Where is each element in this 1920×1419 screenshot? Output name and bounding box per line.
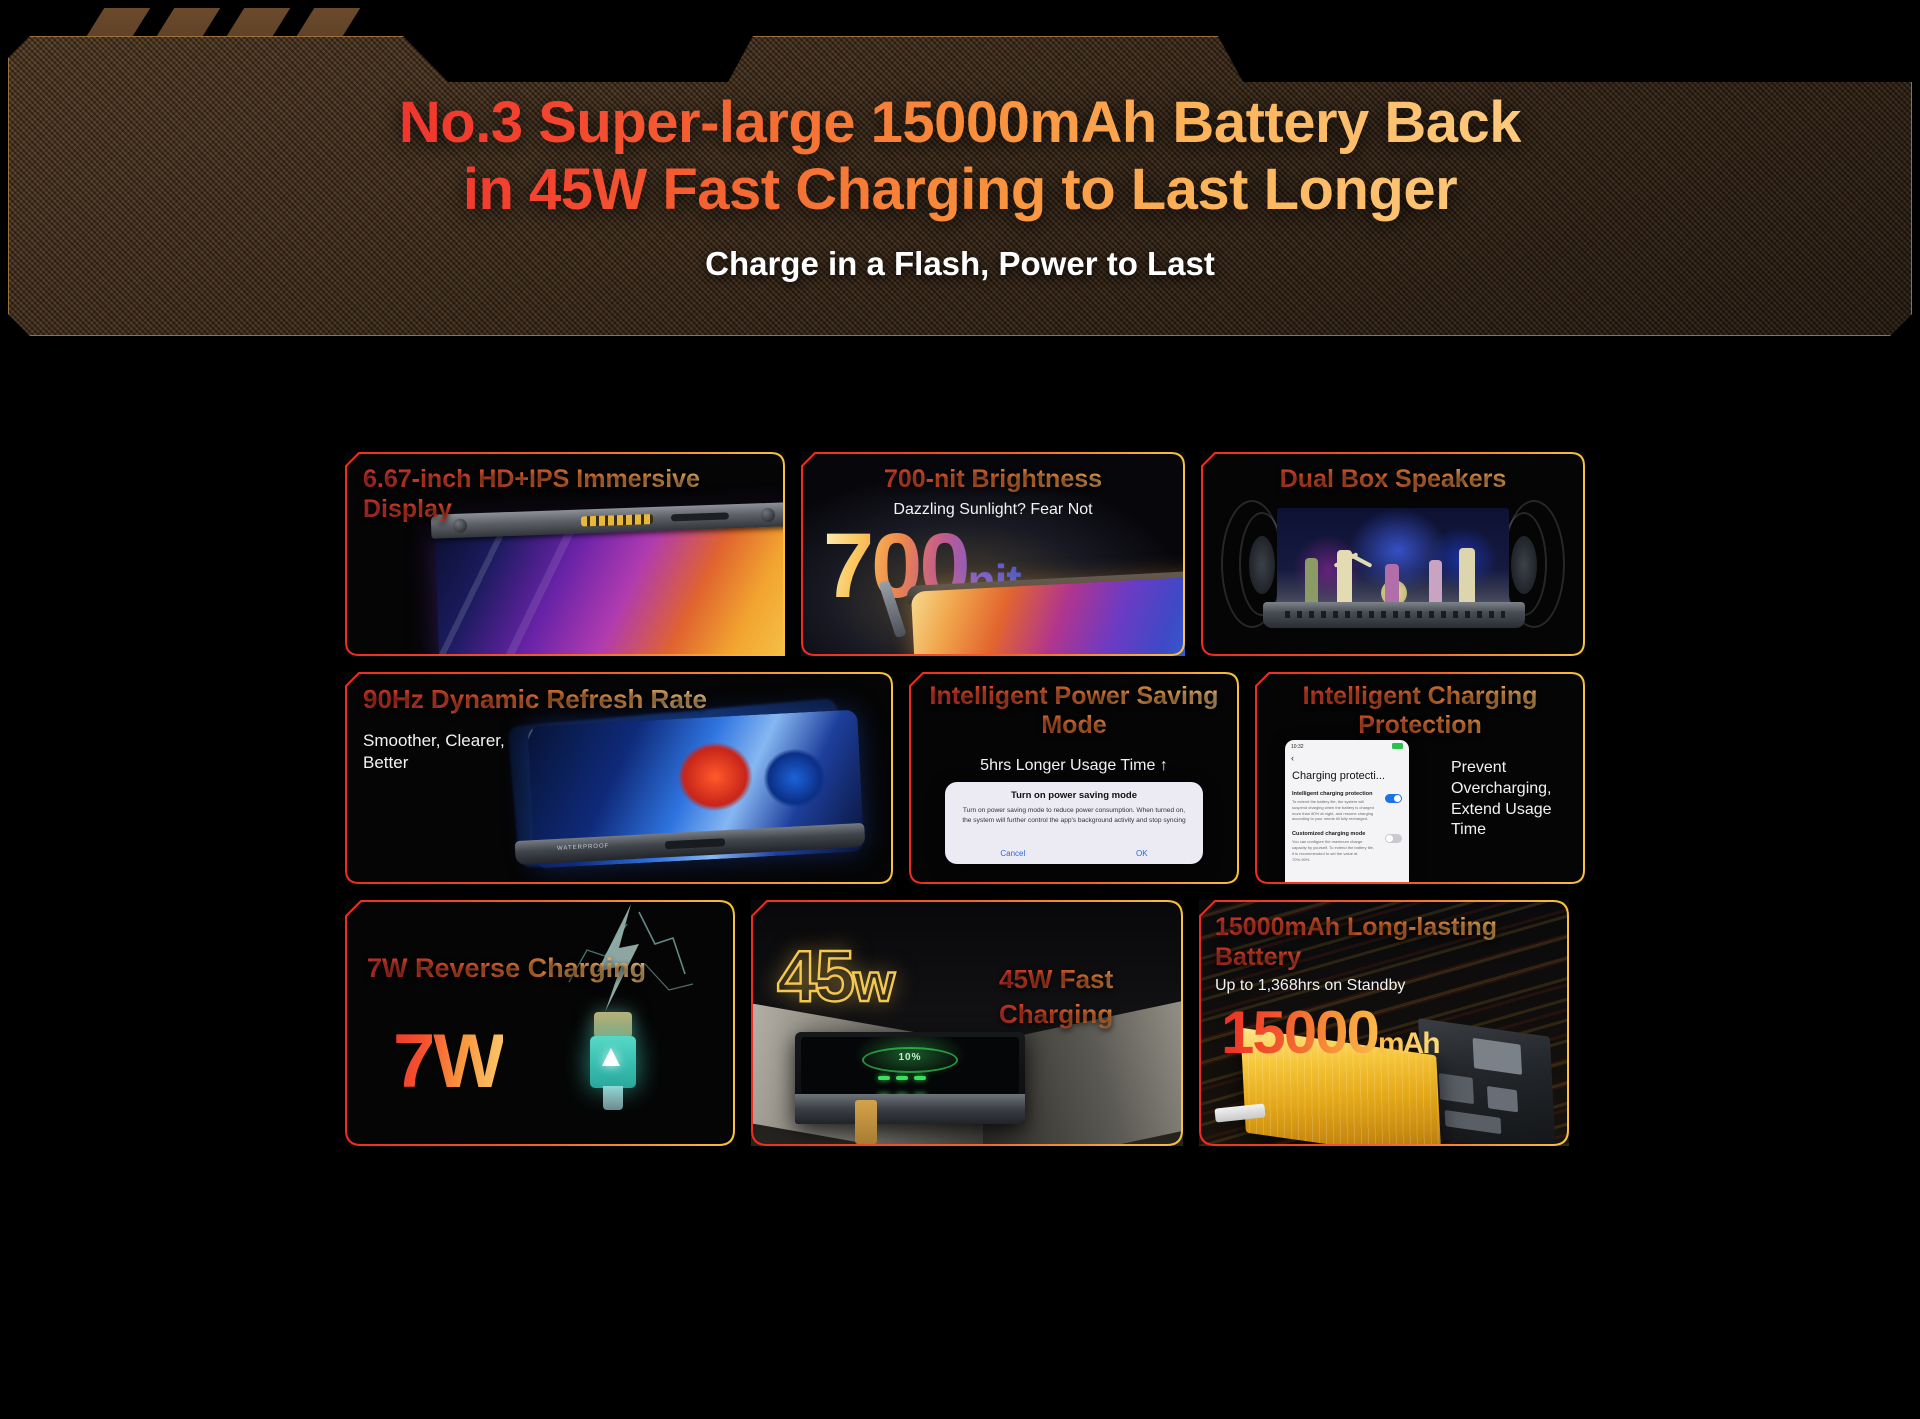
card-brightness-title: 700-nit Brightness [801, 464, 1185, 494]
card-brightness[interactable]: 700nit 700-nit Brightness Dazzling Sunli… [801, 452, 1185, 656]
banner-title: No.3 Super-large 15000mAh Battery Back i… [399, 89, 1521, 224]
setting-customized-charging[interactable]: Customized charging mode You can configu… [1285, 822, 1409, 862]
card-fast-charging[interactable]: 45w 10% 45W Fast Chargin [751, 900, 1183, 1146]
card-refresh-rate-subtitle: Smoother, Clearer, Better [363, 730, 543, 774]
dialog-body-text: Turn on power saving mode to reduce powe… [945, 801, 1203, 826]
back-chevron-icon[interactable]: ‹ [1285, 751, 1409, 763]
card-reverse-charging[interactable]: 7W 7W Reverse Charging [345, 900, 735, 1146]
card-brightness-subtitle: Dazzling Sunlight? Fear Not [801, 500, 1185, 520]
phone-settings-screenshot[interactable]: 10:32 ‹ Charging protecti... Intelligent… [1285, 740, 1409, 882]
phone-bottom-edge [795, 1094, 1025, 1124]
card-fast-charging-title: 45W Fast Charging [999, 962, 1169, 1032]
port-slot [665, 838, 725, 849]
card-refresh-rate[interactable]: WATERPROOF 90Hz Dynamic Refresh Rate Smo… [345, 672, 893, 884]
card-reverse-charging-body: 7W [345, 900, 735, 1146]
battery-graphic-unit: mAh [1378, 1027, 1439, 1060]
card-display-title: 6.67-inch HD+IPS Immersive Display [363, 464, 763, 524]
battery-icon [1392, 743, 1403, 749]
charging-percent: 10% [898, 1052, 921, 1063]
banner-subtitle: Charge in a Flash, Power to Last [705, 245, 1215, 283]
banner-panel: No.3 Super-large 15000mAh Battery Back i… [8, 36, 1912, 336]
charging-dots [875, 1069, 945, 1095]
feature-card-grid: 6.67-inch HD+IPS Immersive Display 700ni… [345, 452, 1585, 1146]
card-speakers-title: Dual Box Speakers [1201, 464, 1585, 494]
feature-row-2: WATERPROOF 90Hz Dynamic Refresh Rate Smo… [345, 672, 1585, 884]
product-feature-page: No.3 Super-large 15000mAh Battery Back i… [0, 0, 1920, 1419]
card-reverse-charging-title: 7W Reverse Charging [367, 952, 646, 984]
banner-title-line2: in 45W Fast Charging to Last Longer [399, 156, 1521, 223]
dialog-actions: Cancel OK [945, 849, 1203, 858]
banner-title-line1: No.3 Super-large 15000mAh Battery Back [399, 89, 1521, 156]
card-charging-protection-title: Intelligent Charging Protection [1255, 682, 1585, 740]
card-power-saving-subtitle: 5hrs Longer Usage Time ↑ [909, 756, 1239, 776]
card-charging-protection[interactable]: Intelligent Charging Protection Prevent … [1255, 672, 1585, 884]
fast-charging-graphic-number: 45w [777, 936, 893, 1018]
card-battery[interactable]: 15000mAh 15000mAh Long-lasting Battery U… [1199, 900, 1569, 1146]
card-display[interactable]: 6.67-inch HD+IPS Immersive Display [345, 452, 785, 656]
card-power-saving-title: Intelligent Power Saving Mode [909, 682, 1239, 740]
charging-plug-icon [855, 1100, 877, 1144]
dialog-cancel-button[interactable]: Cancel [1000, 849, 1025, 858]
card-speakers[interactable]: Dual Box Speakers [1201, 452, 1585, 656]
phone-status-bar: 10:32 [1285, 740, 1409, 751]
feature-row-1: 6.67-inch HD+IPS Immersive Display 700ni… [345, 452, 1585, 656]
flash-bolt-icon [602, 1048, 620, 1066]
settings-page-title: Charging protecti... [1285, 763, 1409, 782]
setting-intelligent-charging[interactable]: Intelligent charging protection To exten… [1285, 782, 1409, 822]
toggle-customized-charging[interactable] [1385, 834, 1402, 843]
battery-graphic-number: 15000mAh [1221, 998, 1439, 1067]
card-power-saving[interactable]: Intelligent Power Saving Mode 5hrs Longe… [909, 672, 1239, 884]
reverse-charging-graphic-number: 7W [393, 1018, 503, 1105]
waterproof-label: WATERPROOF [557, 843, 610, 852]
speaker-right-icon [1511, 536, 1537, 594]
card-charging-protection-subtitle: Prevent Overcharging, Extend Usage Time [1451, 758, 1577, 841]
fast-charging-graphic-unit: w [853, 953, 893, 1013]
card-battery-title: 15000mAh Long-lasting Battery [1215, 912, 1555, 972]
phone-charging-illustration: 10% [795, 1032, 1025, 1124]
card-refresh-rate-title: 90Hz Dynamic Refresh Rate [363, 684, 707, 715]
phone-speakers-illustration [1263, 602, 1525, 628]
setting-description: To extend the battery life, the system w… [1292, 799, 1374, 822]
speaker-left-icon [1249, 536, 1275, 594]
hero-banner: No.3 Super-large 15000mAh Battery Back i… [0, 0, 1920, 420]
phone-charging-screen: 10% [801, 1037, 1019, 1095]
speaker-grille [1285, 611, 1505, 618]
toggle-intelligent-charging[interactable] [1385, 794, 1402, 803]
usb-connector-icon [590, 1012, 636, 1100]
card-battery-subtitle: Up to 1,368hrs on Standby [1215, 976, 1405, 996]
setting-description: You can configure the maximum charge cap… [1292, 839, 1374, 862]
feature-row-3: 7W 7W Reverse Charging [345, 900, 1585, 1146]
status-icons [1392, 743, 1403, 751]
status-time: 10:32 [1291, 744, 1304, 750]
dialog-ok-button[interactable]: OK [1136, 849, 1148, 858]
dialog-title: Turn on power saving mode [945, 790, 1203, 801]
power-saving-dialog[interactable]: Turn on power saving mode Turn on power … [945, 782, 1203, 864]
